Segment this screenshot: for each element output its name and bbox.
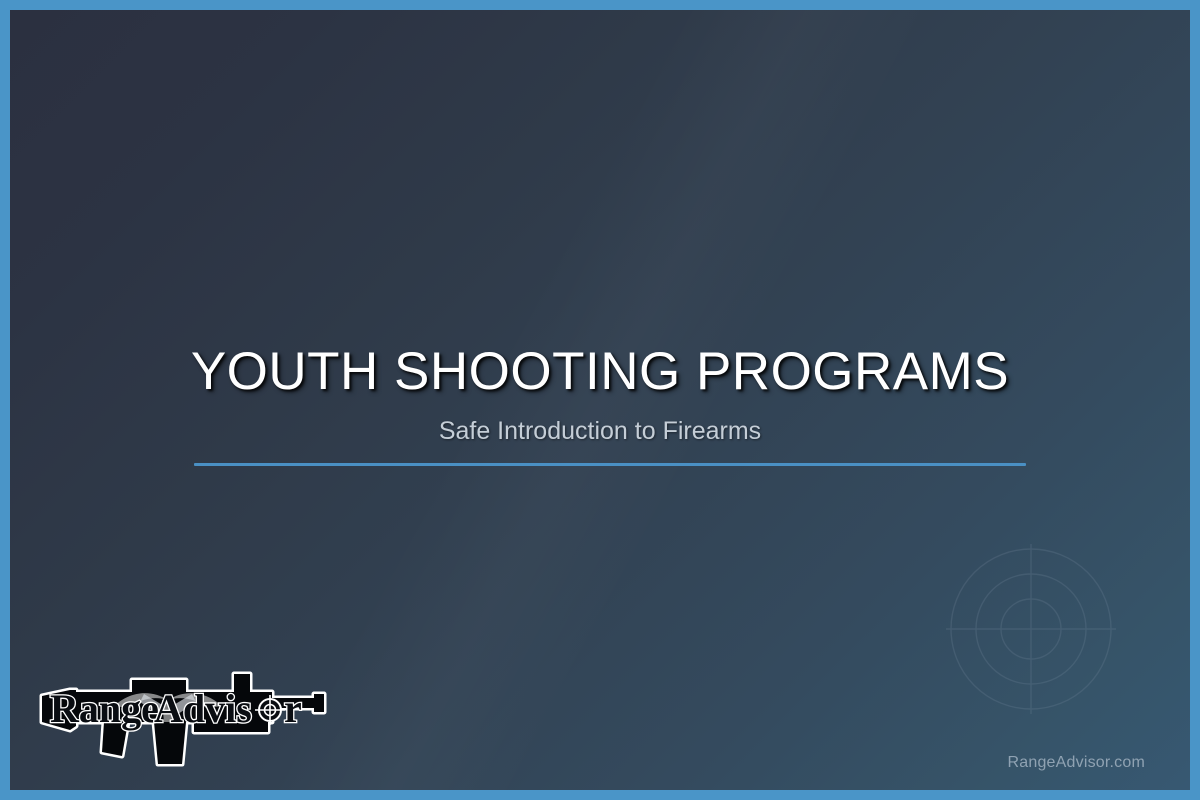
logo-text-advis: Advis bbox=[154, 686, 252, 731]
brand-logo: Range Advis r bbox=[36, 660, 328, 778]
title-slide: YOUTH SHOOTING PROGRAMS Safe Introductio… bbox=[0, 0, 1200, 800]
accent-divider bbox=[194, 463, 1026, 466]
logo-text-r: r bbox=[284, 686, 302, 731]
footer-url: RangeAdvisor.com bbox=[1008, 754, 1146, 772]
crosshair-target-icon bbox=[931, 529, 1131, 729]
page-subtitle: Safe Introduction to Firearms bbox=[110, 416, 1090, 446]
page-title: YOUTH SHOOTING PROGRAMS bbox=[110, 344, 1090, 400]
logo-text-range: Range bbox=[50, 686, 159, 731]
title-block: YOUTH SHOOTING PROGRAMS Safe Introductio… bbox=[110, 344, 1090, 446]
